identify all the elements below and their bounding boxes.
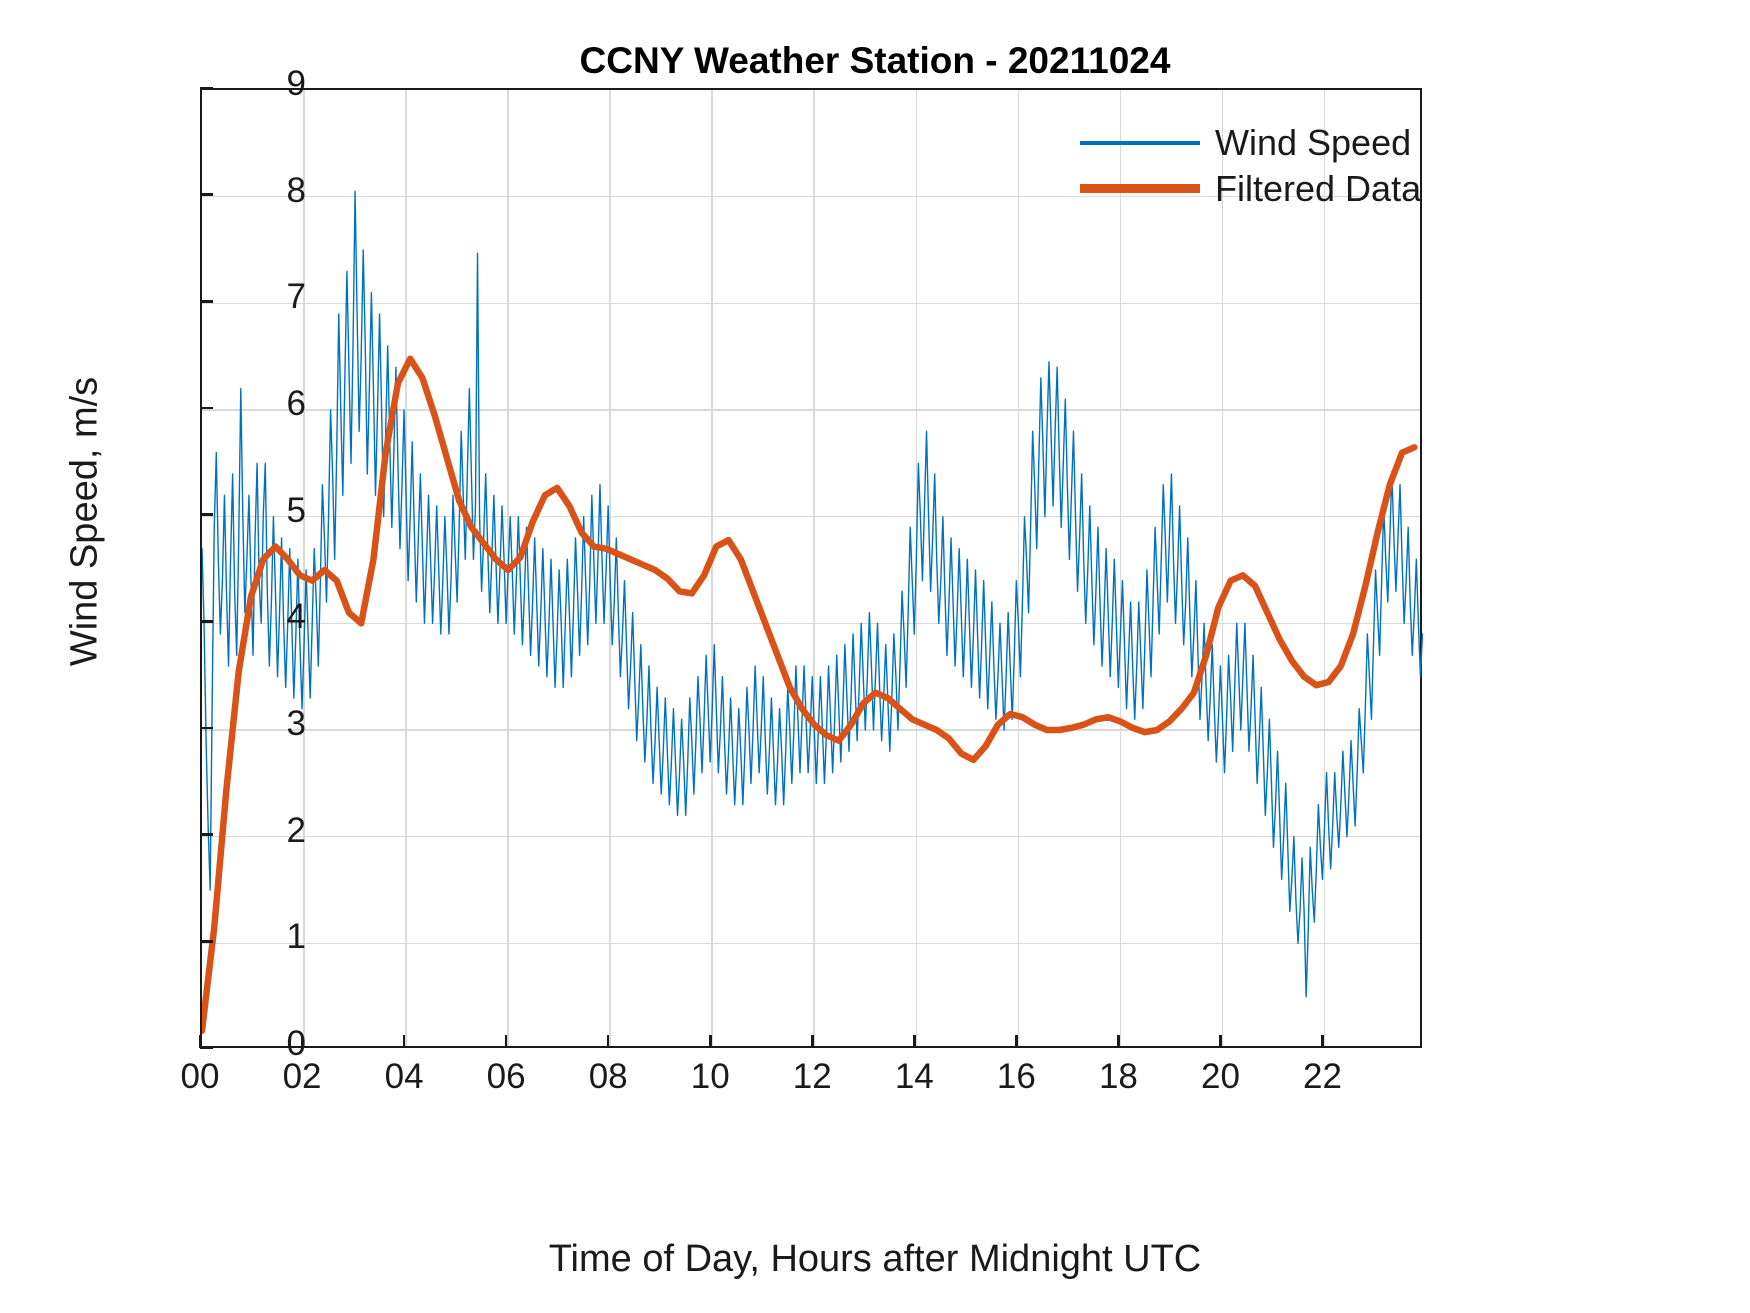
x-tick-mark [403, 1035, 406, 1048]
legend-item-filtered-data[interactable]: Filtered Data [1060, 166, 1420, 212]
x-tick-mark [1117, 1035, 1120, 1048]
legend-swatch-filtered-data [1080, 184, 1200, 193]
y-tick-label: 6 [186, 384, 306, 424]
y-axis-label: Wind Speed, m/s [64, 172, 107, 872]
x-tick-mark [505, 1035, 508, 1048]
x-tick-mark [1015, 1035, 1018, 1048]
y-tick-label: 7 [186, 277, 306, 317]
x-tick-mark [1219, 1035, 1222, 1048]
y-tick-label: 2 [186, 811, 306, 851]
x-tick-mark [1321, 1035, 1324, 1048]
x-tick-mark [709, 1035, 712, 1048]
legend-label-filtered-data: Filtered Data [1215, 166, 1421, 212]
legend-label-wind-speed: Wind Speed [1215, 120, 1411, 166]
legend-item-wind-speed[interactable]: Wind Speed [1060, 120, 1420, 166]
chart-legend: Wind Speed Filtered Data [1060, 120, 1420, 212]
y-tick-label: 1 [186, 917, 306, 957]
data-layer [202, 90, 1420, 1046]
plot-area [200, 88, 1422, 1048]
x-tick-mark [811, 1035, 814, 1048]
x-axis-label: Time of Day, Hours after Midnight UTC [0, 1238, 1750, 1281]
x-tick-mark [913, 1035, 916, 1048]
series-filtered-data [202, 359, 1414, 1031]
y-tick-label: 3 [186, 704, 306, 744]
x-tick-label: 22 [1263, 1057, 1383, 1097]
x-tick-mark [607, 1035, 610, 1048]
x-tick-mark [199, 1035, 202, 1048]
y-tick-label: 5 [186, 491, 306, 531]
y-tick-label: 4 [186, 597, 306, 637]
legend-swatch-wind-speed [1080, 141, 1200, 145]
chart-figure: CCNY Weather Station - 20211024 Wind Spe… [0, 0, 1750, 1313]
series-svg [202, 90, 1424, 1050]
series-wind-speed [202, 191, 1422, 996]
x-tick-mark [301, 1035, 304, 1048]
y-tick-label: 9 [186, 64, 306, 104]
y-tick-label: 8 [186, 171, 306, 211]
